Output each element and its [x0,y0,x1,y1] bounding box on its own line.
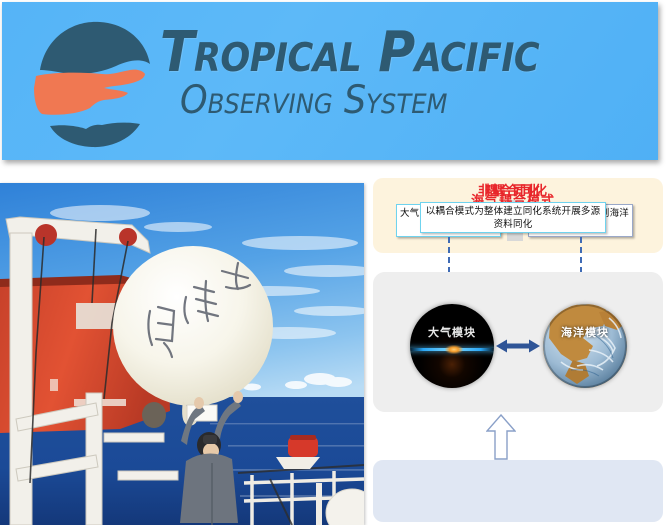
hollow-up-arrow-icon [486,414,516,460]
header-banner: Tropical Pacific Observing System [2,2,658,160]
page-subtitle: Observing System [180,80,650,122]
page-title: Tropical Pacific [160,24,650,82]
double-headed-arrow-icon [496,339,540,353]
logo-wordmark: Tropical Pacific Observing System [160,24,650,154]
ocean-module-label: 海洋模块 [543,324,627,340]
coupled-assimilation-title: 耦合同化 [368,180,658,199]
atmosphere-module-globe-icon: 大气模块 [410,304,494,388]
sun-glow-icon [445,345,463,354]
coupled-assimilation-diagram: 非耦合同化 大气同化系统得到大气初值 不连续 海洋同化系统得到海洋初值 海气耦合… [368,176,670,525]
ocean-module-globe-icon: 海洋模块 [543,304,627,388]
globe-pacific-logo-icon [24,14,164,154]
atmosphere-module-label: 大气模块 [410,324,494,340]
coupled-assimilation-description-box: 以耦合模式为整体建立同化系统开展多源资料同化 [420,202,606,233]
weather-balloon-release-photo [0,183,364,525]
coupled-assimilation-card [373,460,663,522]
